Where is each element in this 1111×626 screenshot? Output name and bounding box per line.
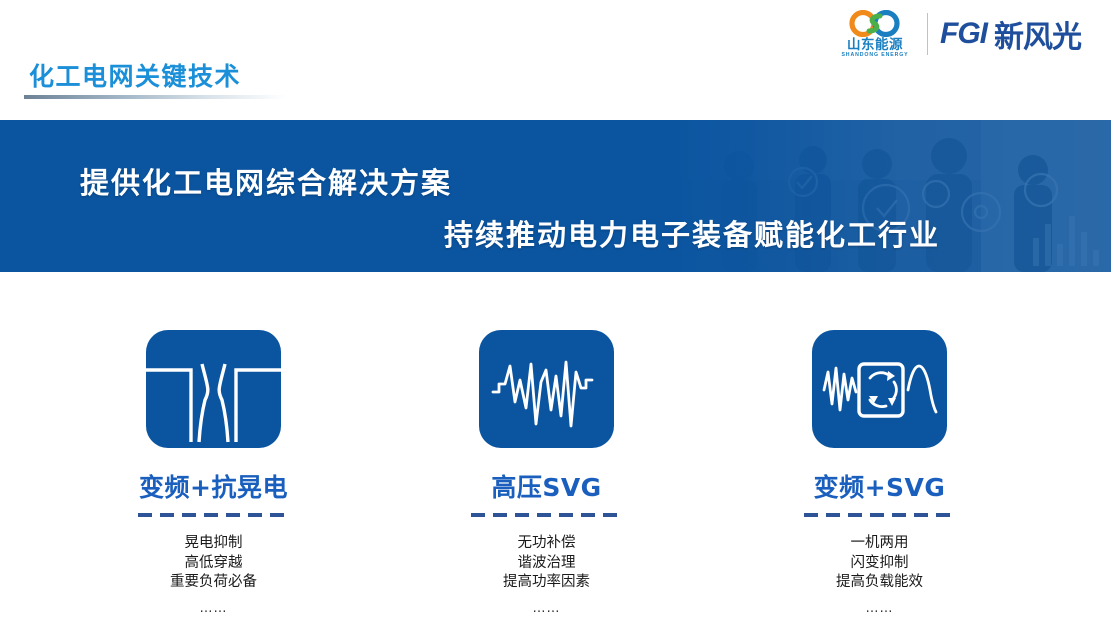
card-divider [804, 513, 956, 517]
banner-headline-1: 提供化工电网综合解决方案 [80, 160, 452, 202]
card-title: 高压SVG [491, 468, 601, 504]
logo-divider [927, 13, 928, 55]
card-ellipsis: …… [200, 601, 228, 616]
fgi-wordmark: FGI [940, 17, 987, 51]
card-bullet: 无功补偿 [503, 534, 590, 554]
feature-card-vfd-antisag[interactable]: 变频+抗晃电 晃电抑制 高低穿越 重要负荷必备 …… [47, 330, 380, 626]
card-bullet: 闪变抑制 [836, 554, 923, 574]
card-bullets: 无功补偿 谐波治理 提高功率因素 [503, 534, 590, 593]
feature-card-row: 变频+抗晃电 晃电抑制 高低穿越 重要负荷必备 …… 高压SVG 无功补偿 谐波… [0, 330, 1111, 626]
card-ellipsis: …… [533, 601, 561, 616]
card-divider [138, 513, 290, 517]
card-title: 变频+SVG [814, 468, 946, 504]
shandong-energy-logo: 山东能源 SHANDONG ENERGY [837, 10, 913, 59]
card-bullet: 提高功率因素 [503, 573, 590, 593]
feature-card-hv-svg[interactable]: 高压SVG 无功补偿 谐波治理 提高功率因素 …… [380, 330, 713, 626]
hero-banner: 提供化工电网综合解决方案 持续推动电力电子装备赋能化工行业 [0, 120, 1111, 272]
card-divider [471, 513, 623, 517]
card-bullets: 晃电抑制 高低穿越 重要负荷必备 [170, 534, 257, 593]
card-bullets: 一机两用 闪变抑制 提高负载能效 [836, 534, 923, 593]
card-bullet: 提高负载能效 [836, 573, 923, 593]
converter-sine-icon [812, 330, 947, 448]
page-title: 化工电网关键技术 [29, 57, 241, 93]
harmonic-waveform-icon [479, 330, 614, 448]
card-bullet: 重要负荷必备 [170, 573, 257, 593]
fgi-name-cn: 新风光 [994, 12, 1081, 56]
shandong-name-en: SHANDONG ENERGY [841, 52, 908, 59]
banner-headline-2: 持续推动电力电子装备赋能化工行业 [444, 212, 940, 254]
card-bullet: 一机两用 [836, 534, 923, 554]
title-underline [24, 95, 286, 99]
page-header: 山东能源 SHANDONG ENERGY FGI 新风光 化工电网关键技术 [0, 0, 1111, 118]
shandong-rings-icon [844, 10, 906, 37]
card-bullet: 晃电抑制 [170, 534, 257, 554]
card-bullet: 谐波治理 [503, 554, 590, 574]
logo-lockup: 山东能源 SHANDONG ENERGY FGI 新风光 [837, 6, 1081, 62]
shandong-name-cn: 山东能源 [847, 38, 903, 52]
card-ellipsis: …… [866, 601, 894, 616]
card-bullet: 高低穿越 [170, 554, 257, 574]
card-title: 变频+抗晃电 [139, 468, 288, 504]
fgi-logo: FGI 新风光 [940, 12, 1081, 56]
voltage-sag-icon [146, 330, 281, 448]
feature-card-vfd-svg[interactable]: 变频+SVG 一机两用 闪变抑制 提高负载能效 …… [713, 330, 1046, 626]
